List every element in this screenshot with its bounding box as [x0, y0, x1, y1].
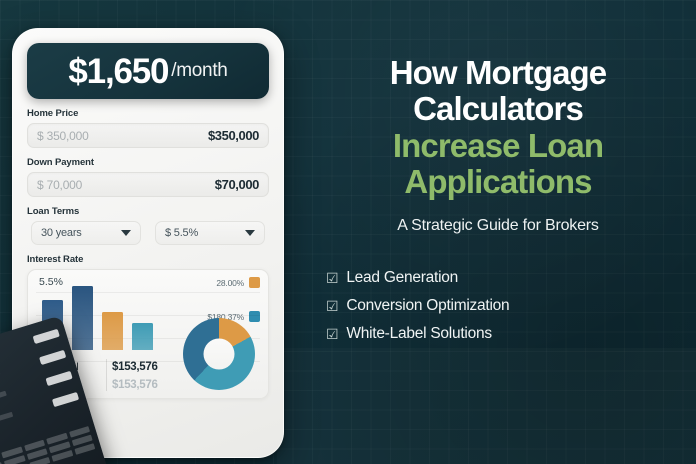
chevron-down-icon [245, 230, 255, 236]
donut-center [204, 339, 235, 370]
list-item-label: White-Label Solutions [346, 325, 492, 343]
hero-content: How Mortgage Calculators Increase Loan A… [300, 0, 696, 464]
down-payment-value: $70,000 [215, 177, 259, 192]
summary-value-interest: $153,576 [112, 379, 158, 391]
summary-divider [106, 359, 107, 391]
payment-unit: /month [171, 60, 227, 82]
chart-bar [72, 286, 93, 350]
home-price-input[interactable]: $ 350,000 $350,000 [27, 123, 269, 148]
title-line-4: Applications [300, 164, 696, 200]
interest-rate-select[interactable]: $ 5.5% [155, 221, 265, 245]
summary-value-principal: $153,576 [112, 361, 158, 373]
down-payment-label: Down Payment [27, 157, 269, 168]
checkbox-checked-icon: ☑ [326, 327, 338, 341]
page-title: How Mortgage Calculators Increase Loan A… [300, 0, 696, 200]
loan-terms-group: Loan Terms 30 years $ 5.5% [27, 206, 269, 245]
interest-rate-select-value: $ 5.5% [165, 227, 198, 239]
monthly-payment-badge: $1,650 /month [27, 43, 269, 99]
donut-chart [183, 318, 255, 390]
list-item: ☑ Conversion Optimization [326, 297, 696, 315]
legend-swatch-1 [249, 277, 260, 288]
list-item-label: Conversion Optimization [346, 297, 509, 315]
legend-label-1: 28.00% [216, 278, 244, 288]
home-price-value: $350,000 [208, 128, 259, 143]
loan-term-select[interactable]: 30 years [31, 221, 141, 245]
down-payment-group: Down Payment $ 70,000 $70,000 [27, 157, 269, 197]
home-price-group: Home Price $ 350,000 $350,000 [27, 108, 269, 148]
down-payment-placeholder: $ 70,000 [37, 178, 82, 192]
title-line-1: How Mortgage [300, 55, 696, 91]
feature-list: ☑ Lead Generation ☑ Conversion Optimizat… [300, 269, 696, 343]
down-payment-input[interactable]: $ 70,000 $70,000 [27, 172, 269, 197]
checkbox-checked-icon: ☑ [326, 299, 338, 313]
page-subtitle: A Strategic Guide for Brokers [300, 217, 696, 235]
loan-term-value: 30 years [41, 227, 82, 239]
interest-rate-group: Interest Rate [27, 254, 269, 265]
checkbox-checked-icon: ☑ [326, 271, 338, 285]
payment-amount: $1,650 [68, 54, 168, 89]
chart-legend-item-1: 28.00% [216, 277, 260, 288]
title-line-2: Calculators [300, 91, 696, 127]
list-item: ☑ White-Label Solutions [326, 325, 696, 343]
title-line-3: Increase Loan [300, 128, 696, 164]
loan-terms-label: Loan Terms [27, 206, 269, 217]
home-price-label: Home Price [27, 108, 269, 119]
list-item: ☑ Lead Generation [326, 269, 696, 287]
chart-bar [132, 323, 153, 350]
chevron-down-icon [121, 230, 131, 236]
chart-bar [102, 312, 123, 350]
list-item-label: Lead Generation [346, 269, 458, 287]
home-price-placeholder: $ 350,000 [37, 129, 89, 143]
interest-rate-label: Interest Rate [27, 254, 269, 265]
